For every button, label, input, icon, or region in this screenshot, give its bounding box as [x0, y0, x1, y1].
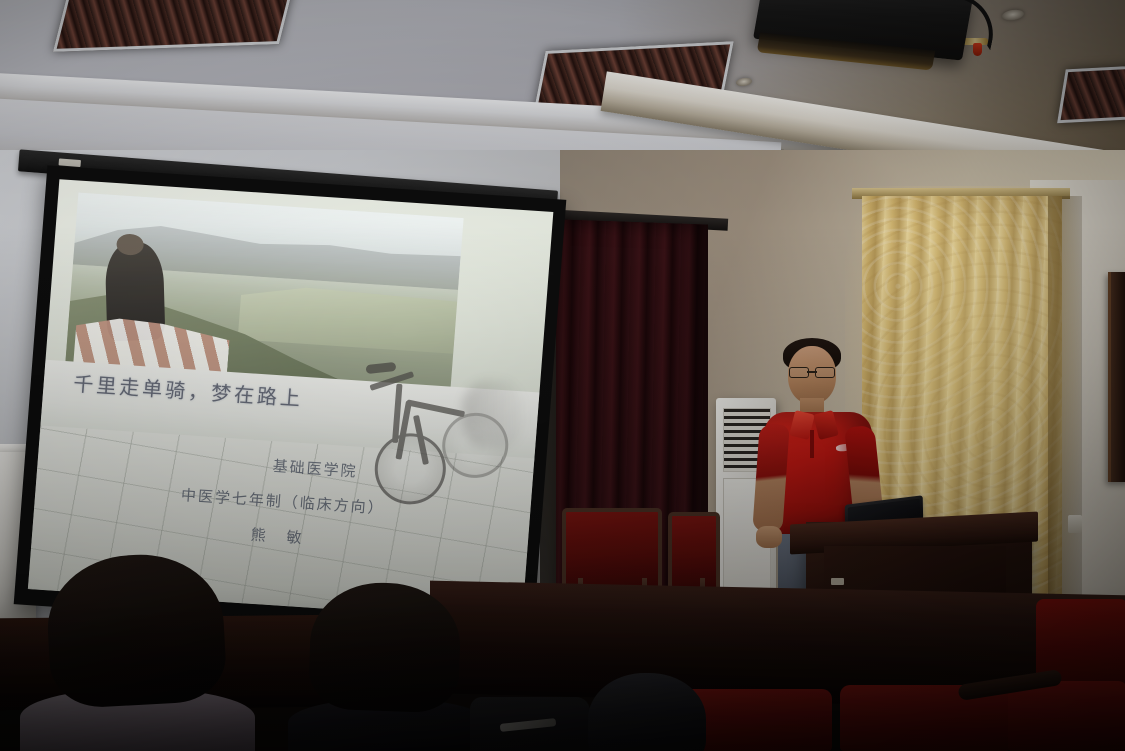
- stage-chair[interactable]: [668, 512, 720, 592]
- auditorium-seat[interactable]: [1008, 681, 1125, 751]
- audience-member-3-head: [588, 673, 706, 751]
- presenter-left-hand: [756, 526, 782, 548]
- projected-slide: 千里走单骑，梦在路上 基础医学院 中医学七年制（临床方向） 熊 敏: [28, 179, 553, 622]
- lecture-hall-photo: 千里走单骑，梦在路上 基础医学院 中医学七年制（临床方向） 熊 敏: [0, 0, 1125, 751]
- eyeglasses-bridge: [807, 371, 817, 373]
- curtain-edge: [1048, 196, 1082, 608]
- lectern-label: [831, 578, 844, 585]
- ceiling-grid-light-icon: [53, 0, 295, 52]
- framed-picture: [1108, 272, 1125, 482]
- bicycle-saddle: [365, 362, 395, 374]
- ceiling-grid-light-icon: [1057, 63, 1125, 124]
- wall-switch[interactable]: [1068, 515, 1082, 533]
- bicycle-motion-blur: [461, 379, 525, 449]
- bicycle-handlebar: [369, 371, 413, 391]
- shirt-placket: [810, 430, 814, 458]
- stage-chair[interactable]: [562, 508, 662, 592]
